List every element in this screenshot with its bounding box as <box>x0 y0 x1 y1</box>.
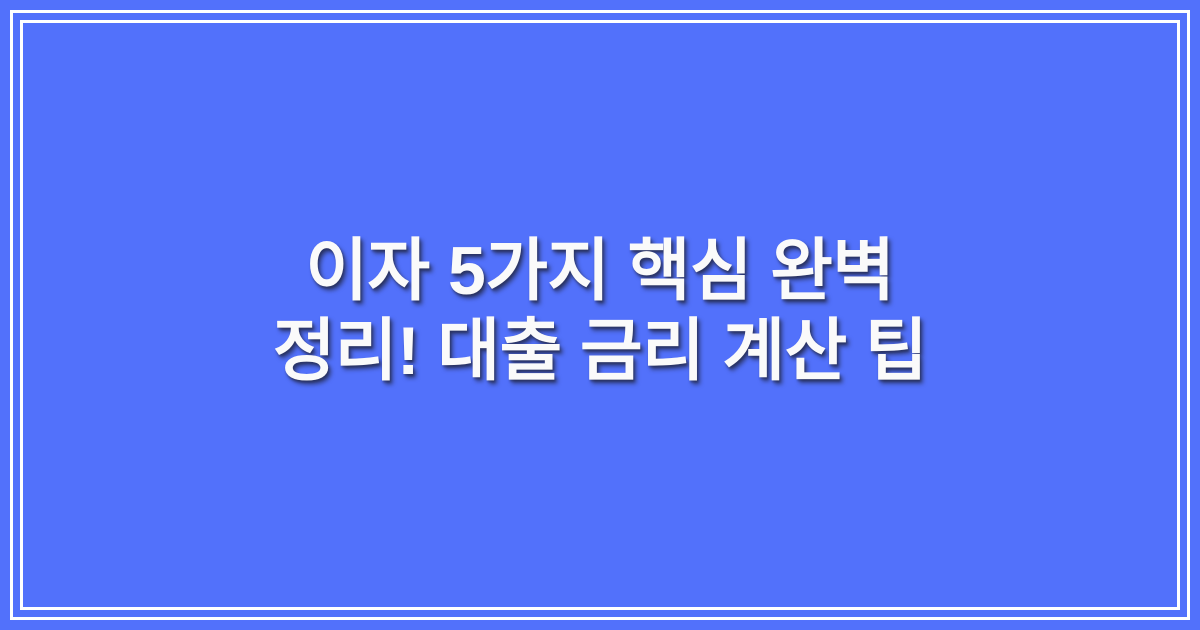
page-title: 이자 5가지 핵심 완벽 정리! 대출 금리 계산 팁 <box>260 232 940 391</box>
thumbnail-card: 이자 5가지 핵심 완벽 정리! 대출 금리 계산 팁 <box>0 0 1200 630</box>
title-block: 이자 5가지 핵심 완벽 정리! 대출 금리 계산 팁 <box>260 232 940 391</box>
